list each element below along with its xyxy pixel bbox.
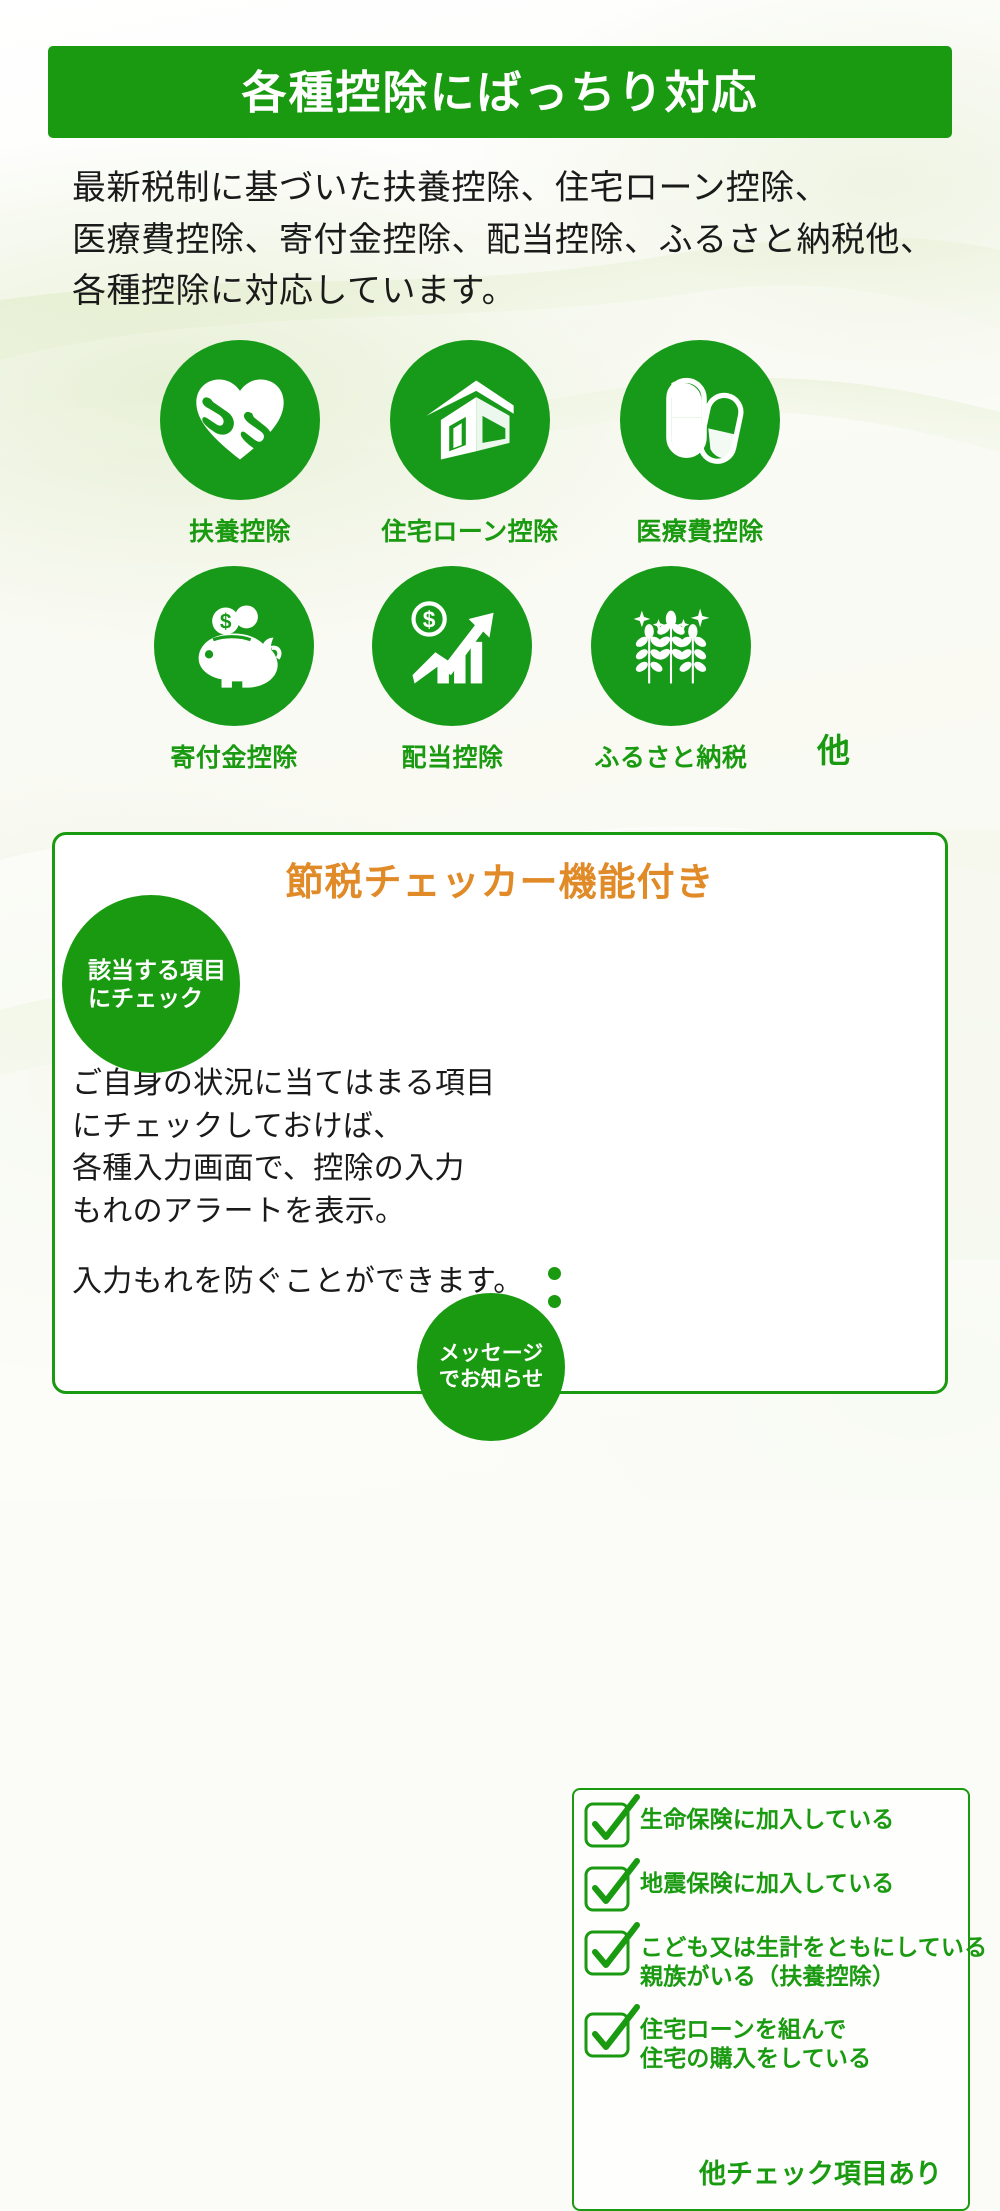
promo-graphic: 各種控除にばっちり対応 最新税制に基づいた扶養控除、住宅ローン控除、 医療費控除… (0, 0, 1000, 1500)
checkbox-3[interactable] (584, 1930, 628, 1974)
checkbox-checked-icon (582, 1792, 642, 1852)
icon-circle: $ (372, 566, 532, 726)
badge-check-line-2: にチェック (88, 984, 240, 1012)
list-item[interactable]: 生命保険に加入している (584, 1800, 964, 1846)
checklist-label-line-1: 住宅ローンを組んで (640, 2015, 871, 2044)
list-item[interactable]: 地震保険に加入している (584, 1864, 964, 1910)
badge-message-notice: メッセージ でお知らせ (417, 1293, 565, 1441)
svg-text:$: $ (423, 606, 436, 632)
deduction-icon-grid: 扶養控除 住宅ローン控除 (150, 340, 850, 792)
checkbox-1[interactable] (584, 1802, 628, 1846)
intro-line-1: 最新税制に基づいた扶養控除、住宅ローン控除、 (72, 163, 952, 215)
deduction-item-fuyou[interactable]: 扶養控除 (150, 340, 330, 548)
svg-text:$: $ (220, 610, 232, 633)
checklist-footer-note: 他チェック項目あり (699, 2152, 942, 2191)
icon-circle (160, 340, 320, 500)
checklist-label-line-1: 生命保険に加入している (640, 1805, 895, 1834)
checkbox-checked-icon (582, 1856, 642, 1916)
deduction-label: ふるさと納税 (594, 738, 747, 774)
checkbox-checked-icon (582, 2002, 642, 2062)
checklist-label: 地震保険に加入している (640, 1864, 895, 1898)
pills-icon (648, 368, 752, 472)
description-line-2: にチェックしておけば、 (72, 1106, 512, 1149)
icon-circle (620, 340, 780, 500)
deduction-item-dividend[interactable]: $ 配当控除 (368, 566, 536, 774)
checklist-label: 生命保険に加入している (640, 1800, 895, 1834)
growth-chart-icon: $ (400, 594, 504, 698)
deduction-label: 寄付金控除 (170, 738, 298, 774)
list-item[interactable]: 住宅ローンを組んで 住宅の購入をしている (584, 2010, 964, 2074)
deduction-item-housing-loan[interactable]: 住宅ローン控除 (380, 340, 560, 548)
checklist-panel: 生命保険に加入している 地震保険に加入している (572, 1788, 970, 2211)
badge-message-line-2: でお知らせ (439, 1367, 544, 1393)
header-banner: 各種控除にばっちり対応 (48, 46, 952, 138)
checkbox-checked-icon (582, 1920, 642, 1980)
checklist-items: 生命保険に加入している 地震保険に加入している (584, 1800, 964, 2092)
piggy-bank-icon: $ (182, 594, 286, 698)
description-line-4: もれのアラートを表示。 (72, 1191, 512, 1234)
dot-2 (548, 1295, 561, 1308)
dot-1 (548, 1267, 561, 1280)
checklist-label-line-2: 親族がいる（扶養控除） (640, 1962, 987, 1991)
badge-message-line-1: メッセージ (439, 1341, 544, 1367)
badge-check-line-1: 該当する項目 (88, 956, 240, 984)
ellipsis-dots (548, 1267, 561, 1323)
panel-description: ご自身の状況に当てはまる項目 にチェックしておけば、 各種入力画面で、控除の入力… (72, 1063, 512, 1304)
checklist-label-line-1: 地震保険に加入している (640, 1869, 895, 1898)
deduction-item-medical[interactable]: 医療費控除 (610, 340, 790, 548)
deduction-label: 配当控除 (401, 738, 503, 774)
page-title: 各種控除にばっちり対応 (241, 70, 758, 115)
checklist-label: こども又は生計をともにしている 親族がいる（扶養控除） (640, 1928, 987, 1992)
list-item[interactable]: こども又は生計をともにしている 親族がいる（扶養控除） (584, 1928, 964, 1992)
deduction-label: 住宅ローン控除 (381, 512, 558, 548)
checkbox-4[interactable] (584, 2012, 628, 2056)
more-deductions-label: 他 (817, 724, 850, 772)
deduction-label: 扶養控除 (189, 512, 291, 548)
deduction-item-donation[interactable]: $ 寄付金控除 (150, 566, 318, 774)
deduction-icon-row-1: 扶養控除 住宅ローン控除 (150, 340, 850, 548)
description-line-3: 各種入力画面で、控除の入力 (72, 1148, 512, 1191)
hands-heart-icon (188, 368, 292, 472)
rice-stalks-icon (619, 594, 723, 698)
checklist-label-line-2: 住宅の購入をしている (640, 2044, 871, 2073)
intro-line-3: 各種控除に対応しています。 (72, 266, 952, 318)
panel-title: 節税チェッカー機能付き (55, 851, 945, 906)
description-line-5: 入力もれを防ぐことができます。 (72, 1261, 512, 1304)
deduction-icon-row-2: $ 寄付金控除 $ (150, 566, 850, 774)
house-icon (418, 368, 522, 472)
icon-circle: $ (154, 566, 314, 726)
intro-paragraph: 最新税制に基づいた扶養控除、住宅ローン控除、 医療費控除、寄付金控除、配当控除、… (72, 163, 952, 318)
checklist-label-line-1: こども又は生計をともにしている (640, 1933, 987, 1962)
checkbox-2[interactable] (584, 1866, 628, 1910)
deduction-item-furusato[interactable]: ふるさと納税 (587, 566, 755, 774)
deduction-label: 医療費控除 (636, 512, 764, 548)
intro-line-2: 医療費控除、寄付金控除、配当控除、ふるさと納税他、 (72, 215, 952, 267)
checklist-label: 住宅ローンを組んで 住宅の購入をしている (640, 2010, 871, 2074)
badge-check-applicable: 該当する項目 にチェック (62, 895, 240, 1073)
icon-circle (591, 566, 751, 726)
icon-circle (390, 340, 550, 500)
